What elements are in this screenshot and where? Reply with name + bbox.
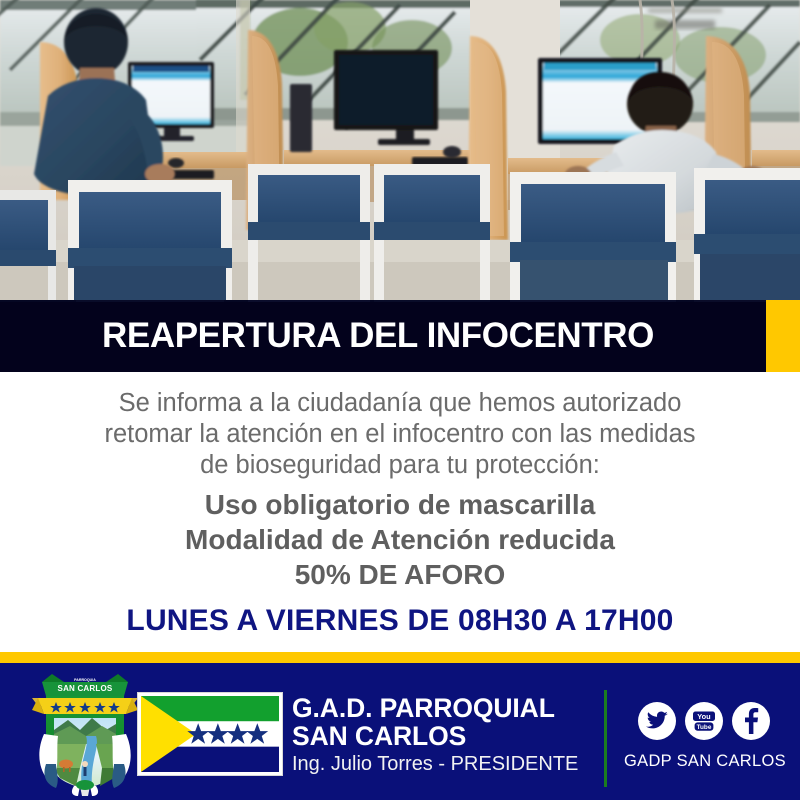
measure-item-3: 50% DE AFORO xyxy=(40,557,760,592)
org-name-line-2: SAN CARLOS xyxy=(292,722,592,750)
announcement-paragraph: Se informa a la ciudadanía que hemos aut… xyxy=(40,388,760,481)
paragraph-line-1: Se informa a la ciudadanía que hemos aut… xyxy=(40,388,760,419)
measures-list: Uso obligatorio de mascarilla Modalidad … xyxy=(40,487,760,592)
measure-item-2: Modalidad de Atención reducida xyxy=(40,522,760,557)
organization-block: G.A.D. PARROQUIAL SAN CARLOS Ing. Julio … xyxy=(292,694,592,777)
title-banner: REAPERTURA DEL INFOCENTRO xyxy=(0,300,766,372)
org-name-line-1: G.A.D. PARROQUIAL xyxy=(292,694,592,722)
svg-text:Tube: Tube xyxy=(697,724,712,731)
banner-accent-tab xyxy=(766,300,800,372)
youtube-icon[interactable]: You Tube xyxy=(685,702,723,740)
flag-icon xyxy=(137,692,283,776)
page-title: REAPERTURA DEL INFOCENTRO xyxy=(0,300,766,372)
footer-accent-strip xyxy=(0,652,800,663)
social-handle: GADP SAN CARLOS xyxy=(615,752,795,771)
svg-text:You: You xyxy=(697,712,711,721)
footer-divider xyxy=(604,690,607,787)
poster: REAPERTURA DEL INFOCENTRO Se informa a l… xyxy=(0,0,800,800)
facebook-icon[interactable] xyxy=(732,702,770,740)
paragraph-line-3: de bioseguridad para tu protección: xyxy=(40,450,760,481)
org-subtitle: Ing. Julio Torres - PRESIDENTE xyxy=(292,752,592,777)
infocentro-photo xyxy=(0,0,800,302)
coat-of-arms-icon: PARROQUIA SAN CARLOS xyxy=(30,668,140,796)
measure-item-1: Uso obligatorio de mascarilla xyxy=(40,487,760,522)
twitter-icon[interactable] xyxy=(638,702,676,740)
svg-text:SAN CARLOS: SAN CARLOS xyxy=(58,684,113,693)
paragraph-line-2: retomar la atención en el infocentro con… xyxy=(40,419,760,450)
social-links: You Tube xyxy=(638,698,772,743)
schedule-text: LUNES A VIERNES DE 08H30 A 17H00 xyxy=(40,604,760,638)
svg-text:PARROQUIA: PARROQUIA xyxy=(74,678,96,682)
